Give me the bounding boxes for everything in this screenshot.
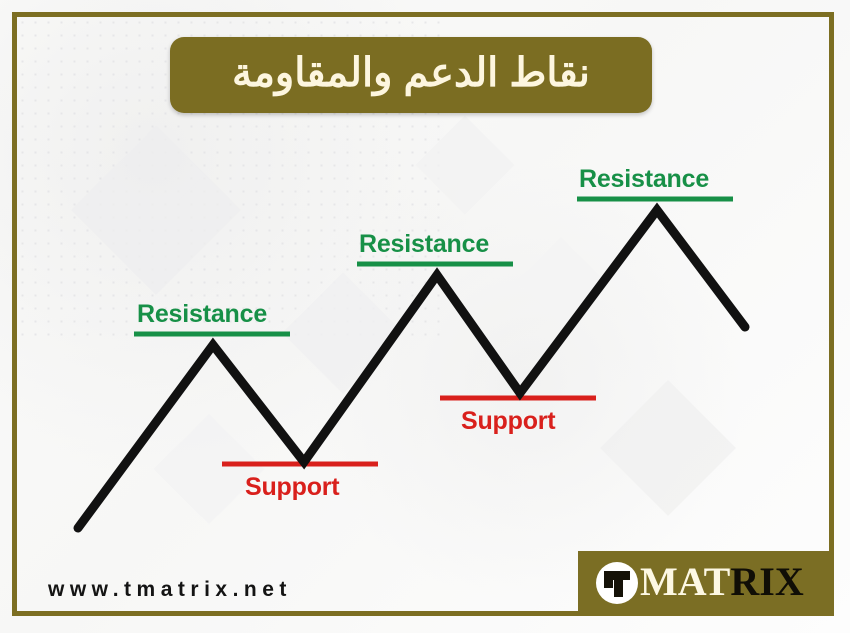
site-url: www.tmatrix.net: [48, 578, 292, 602]
support-label: Support: [245, 473, 339, 502]
support-resistance-chart: [0, 0, 850, 633]
support-label: Support: [461, 407, 555, 436]
brand-wordmark-part1: MAT: [640, 559, 730, 604]
tmatrix-t-badge-icon: [596, 562, 638, 604]
brand-wordmark: MATRIX: [640, 562, 804, 605]
resistance-label: Resistance: [137, 300, 267, 329]
resistance-label: Resistance: [579, 165, 709, 194]
brand-wordmark-part2: RIX: [730, 559, 803, 604]
infographic-canvas: نقاط الدعم والمقاومة ResistanceSupportRe…: [0, 0, 850, 633]
brand-logo-bar: MATRIX: [578, 551, 834, 615]
resistance-label: Resistance: [359, 230, 489, 259]
